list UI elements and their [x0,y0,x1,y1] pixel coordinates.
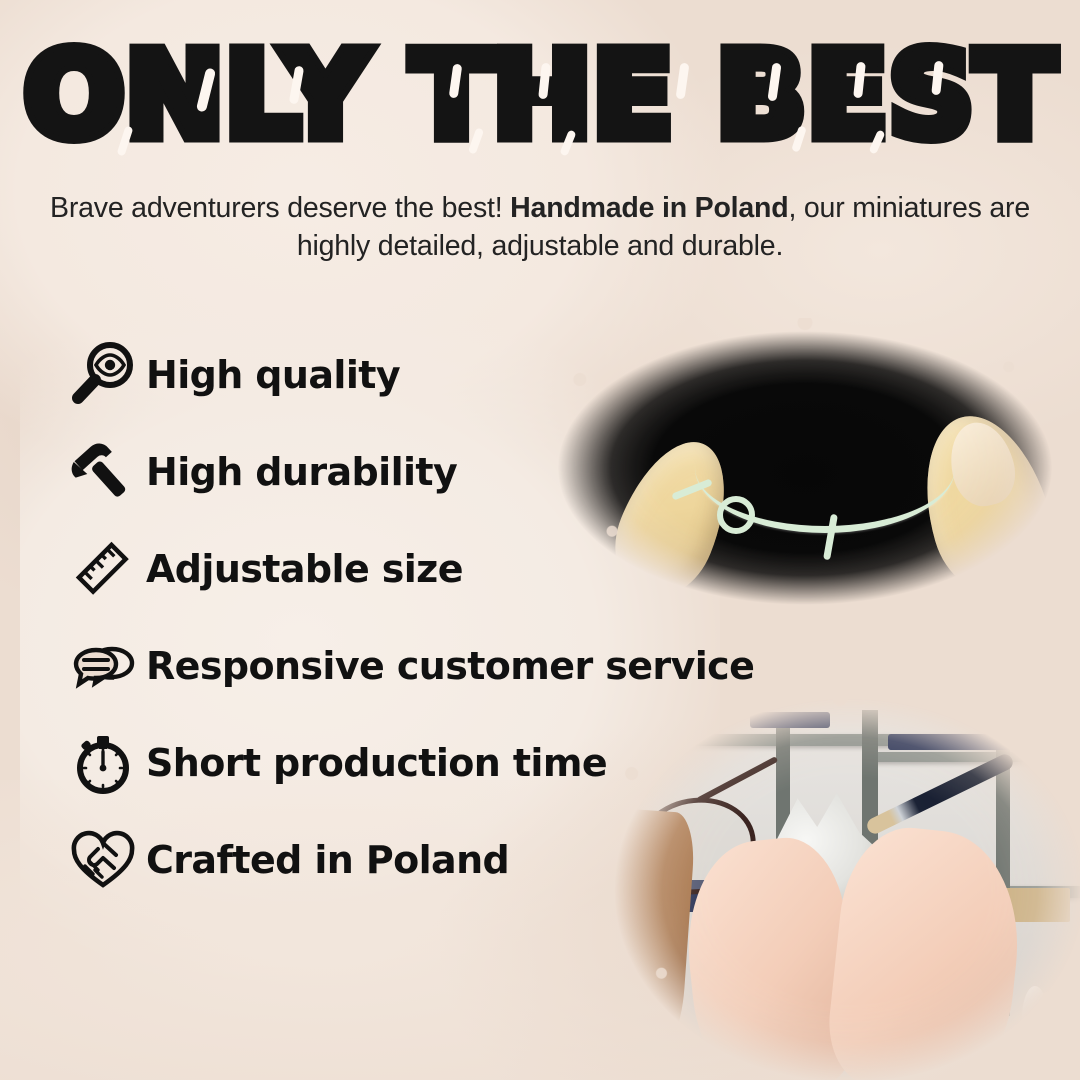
magnifier-eye-icon [60,336,146,414]
feature-label: Short production time [146,741,607,785]
feature-label: Adjustable size [146,547,463,591]
feature-item: Crafted in Poland [60,811,820,908]
feature-item: Adjustable size [60,520,820,617]
shelf [870,752,1080,762]
poster-canvas: ONLY THE BEST Brave adventurers deserve … [0,0,1080,1080]
feature-list: High quality High durability [60,326,820,908]
feature-label: Crafted in Poland [146,838,509,882]
feature-item: High quality [60,326,820,423]
heart-handshake-icon [60,821,146,899]
subtitle: Brave adventurers deserve the best! Hand… [50,190,1030,265]
stopwatch-icon [60,724,146,802]
feature-item: Responsive customer service [60,617,820,714]
feature-label: High durability [146,450,457,494]
speech-bubbles-icon [60,627,146,705]
page-title: ONLY THE BEST [0,36,1080,154]
subtitle-emphasis: Handmade in Poland [510,192,788,224]
parts-tray [888,734,1018,750]
feature-item: High durability [60,423,820,520]
feature-label: High quality [146,353,400,397]
hammer-icon [60,433,146,511]
feature-label: Responsive customer service [146,644,754,688]
feature-item: Short production time [60,714,820,811]
subtitle-lead: Brave adventurers deserve the best! [50,192,510,224]
ruler-icon [60,530,146,608]
